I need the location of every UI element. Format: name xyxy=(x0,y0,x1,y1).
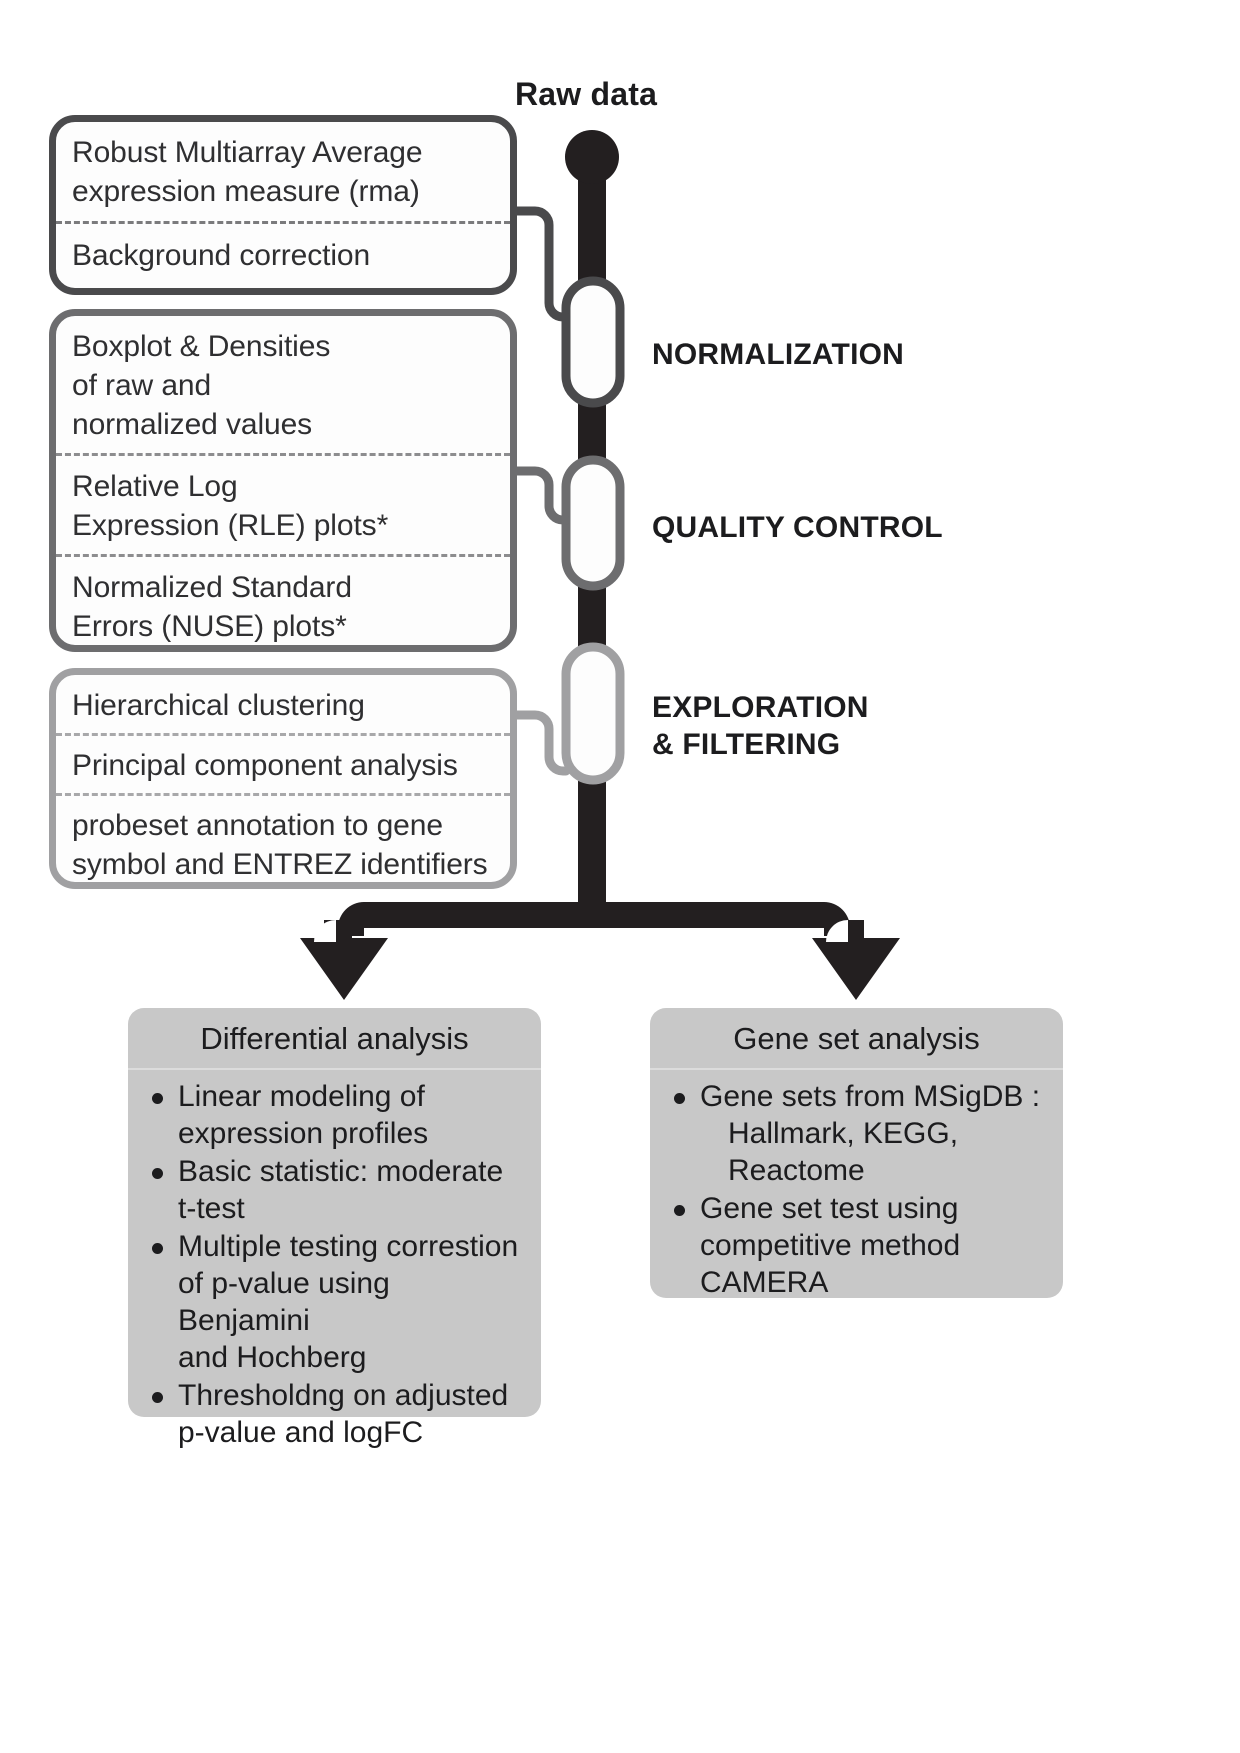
list-item-line: Gene sets from MSigDB : xyxy=(700,1080,1040,1113)
list-item: Linear modeling of expression profiles xyxy=(148,1078,527,1152)
stage-node-normalization xyxy=(566,281,620,403)
arrowhead-left xyxy=(300,938,388,1000)
method-item: Boxplot & Densities of raw and normalize… xyxy=(56,316,510,453)
method-item: Robust Multiarray Average expression mea… xyxy=(56,122,510,221)
panel-title: Gene set analysis xyxy=(650,1008,1063,1070)
connector-normalization xyxy=(517,211,566,317)
connector-quality-control xyxy=(517,471,566,520)
panel-title: Differential analysis xyxy=(128,1008,541,1070)
method-item: Principal component analysis xyxy=(56,733,510,793)
stage-label-exploration-filtering: EXPLORATION & FILTERING xyxy=(652,689,869,763)
list-item: Thresholdng on adjusted p-value and logF… xyxy=(148,1377,527,1451)
stage-label-normalization: NORMALIZATION xyxy=(652,336,904,373)
panel-bullet-list: Linear modeling of expression profiles B… xyxy=(128,1070,541,1468)
stage-label-quality-control: QUALITY CONTROL xyxy=(652,509,943,546)
page-title: Raw data xyxy=(515,76,657,113)
list-item: Gene set test using competitive method C… xyxy=(670,1190,1049,1301)
workflow-diagram: Raw data Robust Multiarray Average expre… xyxy=(0,0,1240,1753)
method-item: Hierarchical clustering xyxy=(56,675,510,733)
connector-exploration-filtering xyxy=(517,715,566,771)
method-box-quality-control: Boxplot & Densities of raw and normalize… xyxy=(49,309,517,652)
method-item: Normalized Standard Errors (NUSE) plots* xyxy=(56,554,510,655)
method-item: Background correction xyxy=(56,221,510,285)
list-item: Gene sets from MSigDB :Hallmark, KEGG,Re… xyxy=(670,1078,1049,1189)
output-panel-differential-analysis: Differential analysis Linear modeling of… xyxy=(128,1008,541,1417)
raw-data-node xyxy=(565,130,619,184)
list-item: Multiple testing correstion of p-value u… xyxy=(148,1228,527,1376)
stage-node-quality-control xyxy=(566,460,620,586)
panel-bullet-list: Gene sets from MSigDB :Hallmark, KEGG,Re… xyxy=(650,1070,1063,1318)
method-box-normalization: Robust Multiarray Average expression mea… xyxy=(49,115,517,295)
list-item: Basic statistic: moderate t-test xyxy=(148,1153,527,1227)
branch-arrows xyxy=(300,902,900,1000)
stage-node-exploration-filtering xyxy=(566,647,620,780)
method-item: probeset annotation to gene symbol and E… xyxy=(56,793,510,892)
method-box-exploration-filtering: Hierarchical clustering Principal compon… xyxy=(49,668,517,889)
list-item-line: Hallmark, KEGG, xyxy=(700,1115,1049,1152)
list-item-line: Reactome xyxy=(700,1152,1049,1189)
method-item: Relative Log Expression (RLE) plots* xyxy=(56,453,510,554)
output-panel-gene-set-analysis: Gene set analysis Gene sets from MSigDB … xyxy=(650,1008,1063,1298)
arrowhead-right xyxy=(812,938,900,1000)
